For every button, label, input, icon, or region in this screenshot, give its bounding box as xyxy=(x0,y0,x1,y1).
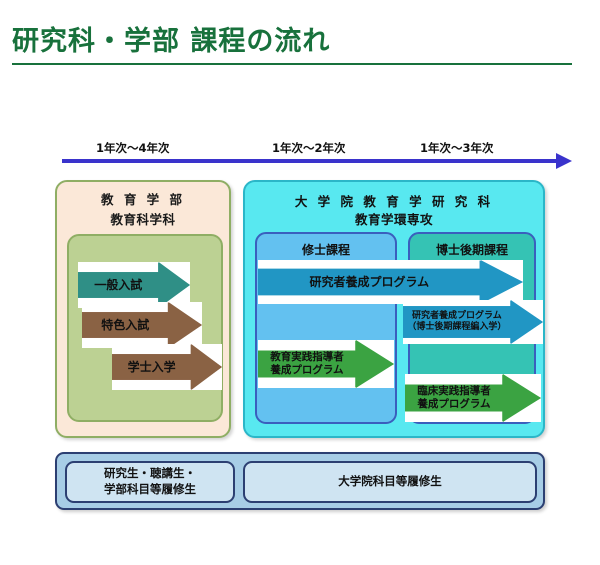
graduate-panel-subtitle: 教育学環専攻 xyxy=(245,209,543,228)
timeline-label-doctoral: 1年次～3年次 xyxy=(420,140,494,156)
timeline-label-undergraduate: 1年次～4年次 xyxy=(96,140,170,156)
timeline-arrow-head-icon xyxy=(556,153,572,169)
program-arrow-educational-practice-leader-label: 教育実践指導者 養成プログラム xyxy=(258,340,356,388)
graduate-non-degree-box: 大学院科目等履修生 xyxy=(243,461,537,503)
admission-arrow-bachelor-transfer: 学士入学 xyxy=(112,344,222,390)
program-arrow-clinical-practice-leader-label: 臨床実践指導者 養成プログラム xyxy=(405,374,503,422)
program-arrow-researcher-training-transfer: 研究者養成プログラム （博士後期課程編入学） xyxy=(403,300,543,344)
doctoral-course-label: 博士後期課程 xyxy=(410,241,534,258)
faculty-panel-subtitle: 教育科学科 xyxy=(57,209,229,228)
master-course-label: 修士課程 xyxy=(257,241,395,258)
title-block: 研究科・学部 課程の流れ xyxy=(12,26,588,65)
admission-arrow-special-label: 特色入試 xyxy=(82,302,168,348)
program-arrow-researcher-training-transfer-label: 研究者養成プログラム （博士後期課程編入学） xyxy=(403,300,511,344)
program-arrow-educational-practice-leader: 教育実践指導者 養成プログラム xyxy=(258,340,394,388)
program-arrow-researcher-training-label: 研究者養成プログラム xyxy=(258,260,481,304)
admission-arrow-special: 特色入試 xyxy=(82,302,202,348)
page-title: 研究科・学部 課程の流れ xyxy=(12,26,588,57)
timeline-label-master: 1年次～2年次 xyxy=(272,140,346,156)
program-arrow-clinical-practice-leader: 臨床実践指導者 養成プログラム xyxy=(405,374,541,422)
admission-arrow-bachelor-transfer-label: 学士入学 xyxy=(112,344,191,390)
undergraduate-non-degree-box: 研究生・聴講生・ 学部科目等履修生 xyxy=(65,461,235,503)
timeline: 1年次～4年次 1年次～2年次 1年次～3年次 xyxy=(0,140,600,170)
timeline-bar xyxy=(62,159,562,163)
faculty-panel-title: 教 育 学 部 xyxy=(57,191,229,209)
graduate-panel-title: 大 学 院 教 育 学 研 究 科 xyxy=(245,191,543,210)
program-arrow-researcher-training: 研究者養成プログラム xyxy=(258,260,523,304)
title-underline-rule xyxy=(12,63,572,65)
non-degree-students-bar: 研究生・聴講生・ 学部科目等履修生 大学院科目等履修生 xyxy=(55,452,545,510)
